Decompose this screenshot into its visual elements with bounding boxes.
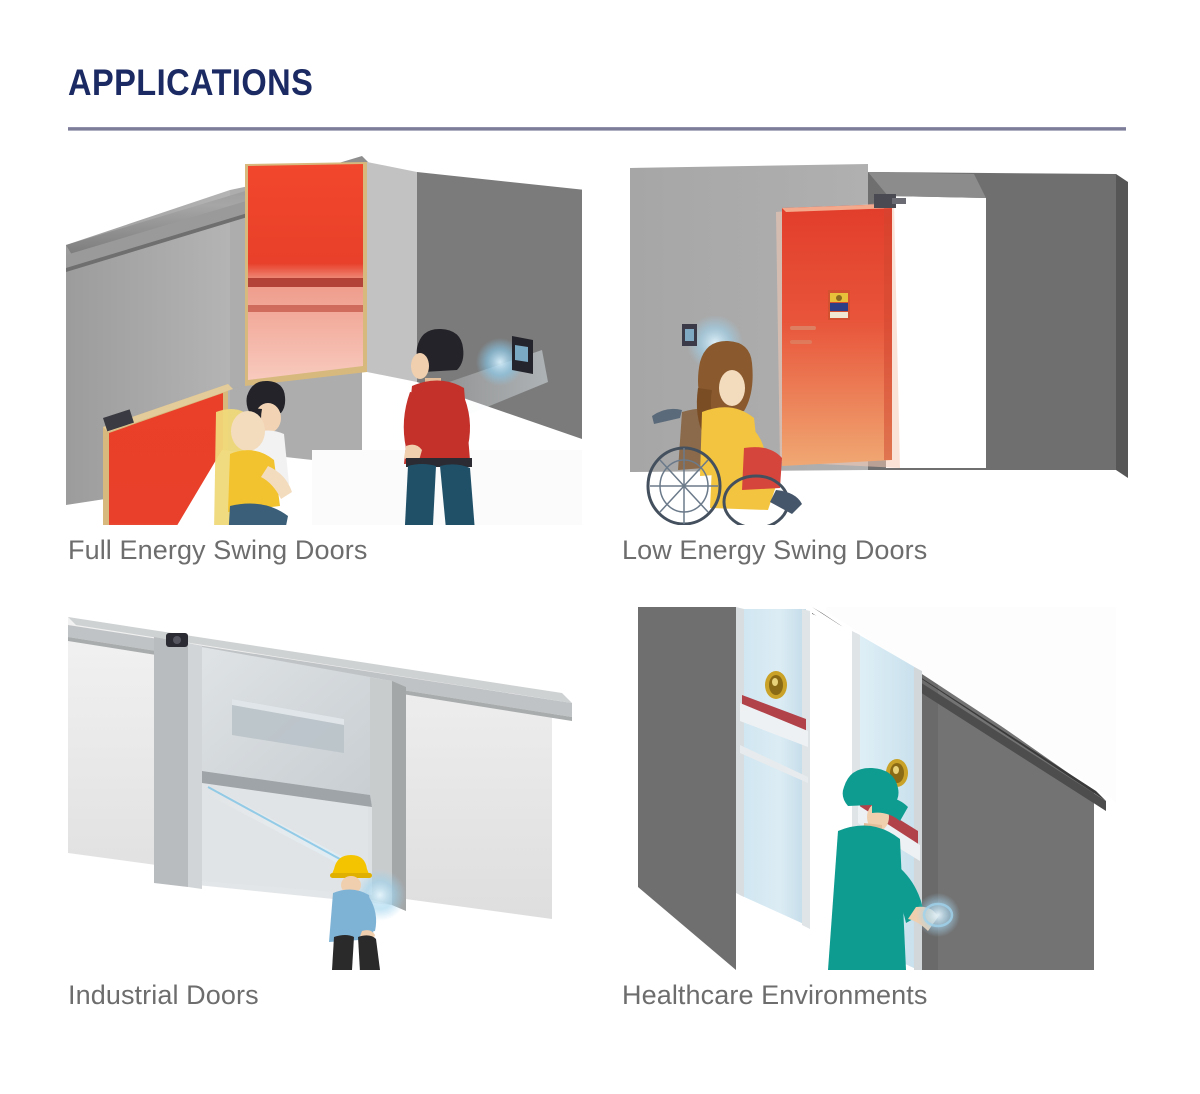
- application-caption: Full Energy Swing Doors: [68, 535, 367, 566]
- industrial-doors-illustration: [62, 595, 582, 970]
- door-hinge-edge: [884, 204, 892, 460]
- switch-lens: [685, 329, 694, 341]
- chair-bag: [742, 447, 782, 490]
- door-decal: [828, 290, 850, 320]
- overhead-sensor: [166, 633, 188, 647]
- user-head: [231, 411, 265, 451]
- worker-leg-left: [332, 935, 354, 970]
- door-frame-left: [154, 637, 188, 887]
- swing-door-back: [245, 162, 367, 386]
- application-card-low-energy-swing-doors: Low Energy Swing Doors: [616, 150, 1136, 590]
- door-leaf-back: [248, 164, 363, 380]
- door-opening: [886, 196, 986, 468]
- glass-frame-far-right: [802, 609, 810, 929]
- application-caption: Healthcare Environments: [622, 980, 927, 1011]
- application-caption: Low Energy Swing Doors: [622, 535, 927, 566]
- door-decal-far: [765, 671, 787, 699]
- healthcare-environments-illustration: [616, 595, 1136, 970]
- hand-activation-glow: [916, 893, 960, 937]
- user-head: [719, 370, 745, 406]
- door-kick-stripe: [248, 278, 363, 287]
- wall-right-edge: [1116, 174, 1128, 478]
- door-operator-arm: [892, 198, 906, 204]
- applications-grid: Full Energy Swing Doors: [0, 150, 1200, 1050]
- door-push-bar: [790, 326, 816, 330]
- door-push-bar2: [790, 340, 812, 344]
- door-leaf: [782, 204, 892, 466]
- application-caption: Industrial Doors: [68, 980, 259, 1011]
- full-energy-swing-doors-illustration: [62, 150, 582, 525]
- application-card-full-energy-swing-doors: Full Energy Swing Doors: [62, 150, 582, 590]
- swing-door: [776, 194, 906, 468]
- page-title: APPLICATIONS: [68, 62, 313, 104]
- low-energy-swing-doors-illustration: [616, 150, 1136, 525]
- door-frame-left-inner: [188, 643, 202, 889]
- wall-right-light: [367, 162, 417, 382]
- glass-door-far: [736, 607, 810, 929]
- application-card-industrial-doors: Industrial Doors: [62, 595, 582, 1035]
- application-card-healthcare-environments: Healthcare Environments: [616, 595, 1136, 1035]
- title-divider: [68, 127, 1126, 131]
- sensor-lens: [173, 636, 181, 644]
- sensor-lens: [515, 345, 528, 362]
- staff-torso: [828, 826, 906, 970]
- man-leg-left: [404, 464, 436, 525]
- man-face: [411, 353, 429, 379]
- door-kick-stripe2: [248, 305, 363, 312]
- applications-page: APPLICATIONS: [0, 0, 1200, 1094]
